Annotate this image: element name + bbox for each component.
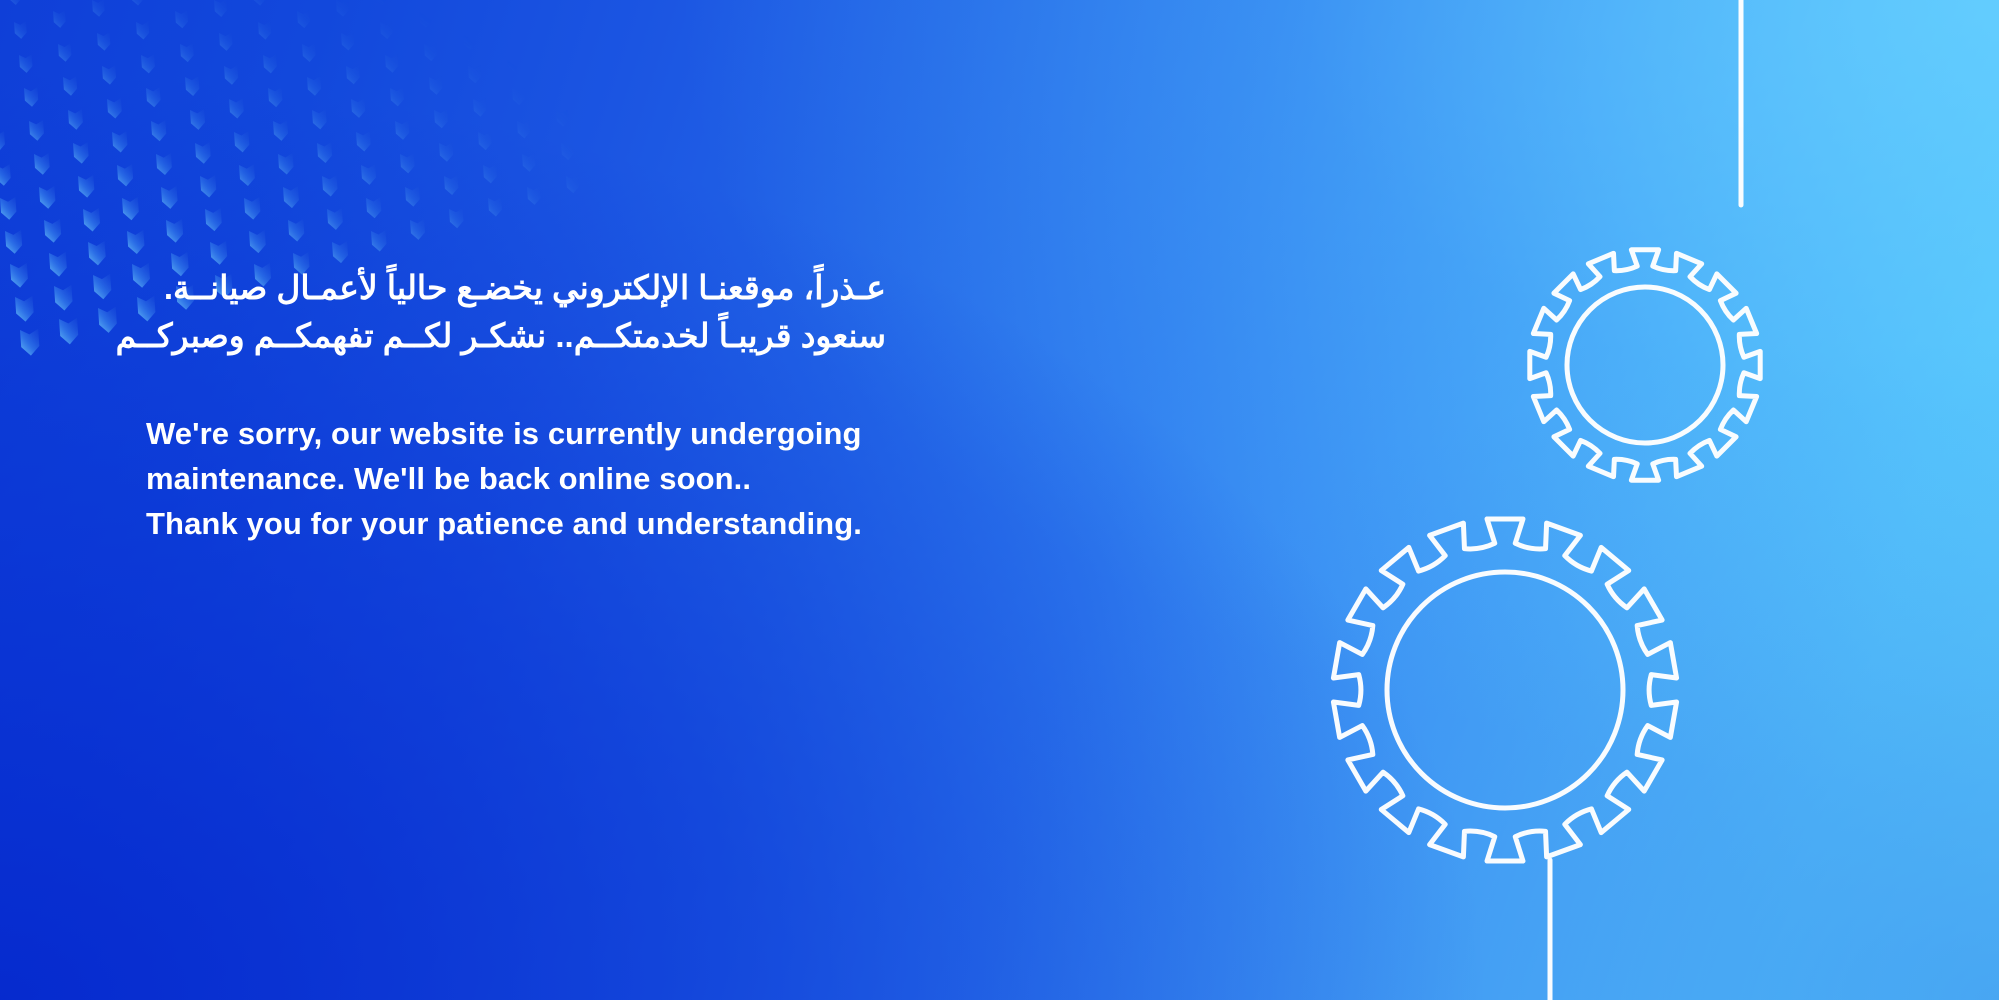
english-message: We're sorry, our website is currently un… <box>146 412 1126 546</box>
arabic-line-2: سنعود قريبـاً لخدمتكــم.. نشكـر لكــم تف… <box>146 312 886 360</box>
english-line-3: Thank you for your patience and understa… <box>146 502 1126 547</box>
arabic-line-1: عـذراً، موقعنـا الإلكتروني يخضـع حالياً … <box>146 264 886 312</box>
english-line-1: We're sorry, our website is currently un… <box>146 412 1126 457</box>
maintenance-page: عـذراً، موقعنـا الإلكتروني يخضـع حالياً … <box>0 0 1999 1000</box>
arabic-message: عـذراً، موقعنـا الإلكتروني يخضـع حالياً … <box>146 264 886 360</box>
maintenance-message: عـذراً، موقعنـا الإلكتروني يخضـع حالياً … <box>146 264 1126 546</box>
english-line-2: maintenance. We'll be back online soon.. <box>146 457 1126 502</box>
